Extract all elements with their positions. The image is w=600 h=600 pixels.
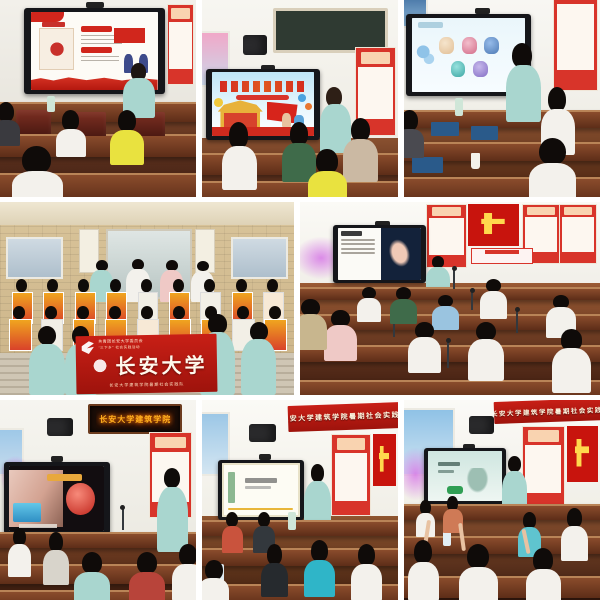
slide-photo — [381, 228, 421, 280]
student-6 — [324, 310, 357, 360]
presenter-head — [164, 468, 180, 488]
pledge-board — [471, 248, 533, 264]
child-head — [173, 279, 184, 292]
child-4-torso — [0, 120, 20, 146]
torso — [357, 298, 381, 322]
student-10 — [300, 299, 327, 349]
slide-content — [428, 451, 502, 501]
video-highlight-circle — [66, 483, 95, 515]
child-2-head — [118, 110, 136, 132]
torso — [202, 578, 229, 600]
hanging-banner-text: 长安大学建筑学院暑期社会实践队 — [494, 400, 600, 424]
torso — [300, 314, 327, 350]
hanging-banner: 长安大学建筑学院暑期社会实践队 — [494, 400, 600, 424]
slide-video — [9, 466, 104, 531]
head — [311, 540, 329, 562]
head — [49, 532, 63, 552]
board-title — [527, 207, 554, 215]
presenter-torso — [157, 487, 188, 552]
child-2 — [43, 532, 68, 584]
collage-cell-bottom-left[interactable]: 长安大学建筑学院 — [0, 400, 196, 600]
torso — [468, 339, 504, 381]
slide-subheading — [236, 95, 289, 99]
slide-card-title — [42, 22, 65, 27]
slide-content — [338, 228, 422, 280]
child-3 — [74, 552, 109, 600]
child-2 — [529, 138, 576, 197]
child-1-head — [229, 122, 249, 149]
head — [414, 540, 432, 564]
slide-heading — [245, 478, 277, 482]
collage-cell-classroom-wide[interactable]: Classroom full of children facing a scre… — [300, 202, 600, 396]
child-2-torso — [529, 163, 576, 197]
slide-side-illustration — [414, 39, 437, 72]
presentation-screen — [333, 225, 426, 283]
torso — [74, 572, 109, 600]
child-1 — [222, 512, 244, 552]
banner-sub-line: “三下乡” 社会实践活动 — [99, 346, 150, 352]
torso — [304, 560, 335, 597]
torso — [241, 339, 276, 395]
photo-top-middle — [202, 0, 398, 197]
emotion-icon-5 — [473, 61, 488, 77]
child-4 — [129, 552, 164, 600]
child-4-torso — [308, 171, 347, 196]
photo-classroom-wide — [300, 202, 600, 396]
poster-body — [169, 22, 191, 69]
balloon-blue — [298, 94, 306, 102]
wall-speaker — [47, 418, 72, 436]
student-8 — [468, 322, 504, 380]
photo-collage: Volunteer teaching a class in front of a… — [0, 0, 600, 600]
emotion-icon-3 — [484, 37, 499, 53]
presentation-screen — [218, 460, 304, 520]
head — [137, 552, 157, 574]
slide-environment — [428, 451, 502, 501]
collage-row-1: Volunteer teaching a class in front of a… — [0, 0, 600, 197]
torso — [561, 526, 588, 561]
child-4-head — [0, 102, 14, 122]
collage-row-3: 长安大学建筑学院 — [0, 400, 600, 600]
child-head — [141, 279, 152, 292]
slide-tree-graphic — [465, 468, 490, 495]
wall-speaker — [243, 35, 267, 55]
slide-line-1 — [341, 239, 375, 241]
board-body — [525, 445, 561, 493]
presenter-torso — [506, 65, 541, 122]
party-flag-board — [468, 204, 519, 247]
photo-bottom-left: 长安大学建筑学院 — [0, 400, 196, 600]
child-head — [45, 306, 57, 319]
child-6 — [202, 560, 229, 600]
head — [533, 548, 553, 571]
water-bottle — [288, 512, 296, 530]
child-2-head — [290, 122, 308, 146]
microphone — [447, 341, 449, 368]
poster-title-band — [155, 437, 186, 449]
led-scrolling-banner: 长安大学建筑学院 — [88, 404, 182, 434]
child-head — [141, 306, 153, 319]
torso — [172, 564, 196, 600]
child-3-head — [404, 110, 418, 131]
microphone — [122, 508, 124, 530]
child-1 — [8, 528, 32, 576]
child-2 — [110, 110, 145, 165]
photo-top-left — [0, 0, 196, 197]
head — [179, 544, 196, 566]
child-3 — [12, 146, 63, 197]
head — [205, 560, 223, 580]
slide-content — [9, 466, 104, 531]
child-head — [16, 279, 27, 292]
head — [567, 508, 582, 528]
child-head — [173, 306, 185, 319]
head — [467, 544, 489, 569]
child-3-head — [351, 118, 370, 142]
board-body — [562, 217, 594, 252]
wall-poster — [167, 4, 194, 85]
presentation-screen — [424, 448, 506, 504]
child-head — [269, 306, 281, 319]
child-5 — [351, 544, 382, 600]
slide-bottom-band — [228, 508, 293, 510]
child-3-torso — [12, 171, 63, 196]
university-emblem-icon — [82, 341, 95, 354]
board-title — [432, 207, 462, 216]
child-head — [77, 306, 89, 319]
water-bottle — [455, 98, 463, 116]
values-poster — [553, 0, 598, 91]
student-7 — [408, 322, 441, 372]
microphone — [471, 291, 473, 310]
torso — [408, 562, 439, 600]
microphone — [516, 310, 518, 333]
pledge-board-title — [485, 250, 519, 254]
slide-content — [222, 463, 300, 517]
child-head — [267, 279, 278, 292]
child-head — [47, 279, 58, 292]
photo-bottom-middle: 长安大学建筑学院暑期社会实践队 — [202, 400, 398, 600]
slide-illustration — [39, 28, 74, 71]
child-front-1 — [9, 306, 30, 349]
microphone — [453, 269, 455, 288]
volunteer-kneeling-left — [29, 326, 64, 396]
volunteer-d-head — [197, 261, 209, 272]
board-title — [337, 438, 365, 449]
torso — [351, 564, 382, 600]
balloon-yellow — [214, 98, 223, 107]
child-3-torso — [343, 139, 378, 182]
slide-subline — [245, 486, 272, 489]
child-3 — [343, 118, 378, 181]
slide-line-4 — [341, 252, 375, 254]
slide-text-column — [338, 228, 382, 280]
head — [208, 314, 226, 334]
award-certificate — [9, 319, 32, 351]
laptop-2 — [471, 126, 498, 140]
child-4 — [0, 102, 20, 145]
child-head — [236, 279, 247, 292]
slide-heading — [341, 231, 362, 236]
child-3 — [261, 544, 288, 596]
child-1-head — [62, 110, 80, 131]
torso — [261, 563, 288, 597]
slide-heading — [418, 22, 443, 27]
screen-camera-icon — [475, 8, 491, 14]
wall-board-1 — [522, 426, 565, 508]
slide-heading — [438, 462, 460, 466]
poster-body — [557, 4, 595, 69]
poster-body — [358, 67, 393, 119]
slide-green-button — [447, 486, 463, 494]
head — [267, 544, 282, 565]
child-3-torso — [404, 129, 424, 158]
torso — [526, 569, 561, 600]
photo-top-right — [404, 0, 600, 197]
led-banner-text: 长安大学建筑学院 — [96, 410, 175, 429]
laptop-1 — [431, 122, 458, 136]
presenter — [506, 43, 541, 122]
child-3 — [404, 110, 424, 157]
collage-cell-top-middle[interactable]: Presenter beside a large screen showing … — [202, 0, 398, 197]
hanging-banner-text: 长安大学建筑学院暑期社会实践队 — [288, 402, 398, 432]
child-6-hand-raised — [459, 544, 498, 600]
child-4 — [308, 149, 347, 196]
child-3-head — [22, 146, 52, 174]
child-head — [13, 306, 25, 319]
child-7-hand-raised — [526, 548, 561, 600]
student-1 — [357, 287, 381, 322]
head — [38, 326, 56, 346]
collage-cell-bottom-middle[interactable]: 长安大学建筑学院暑期社会实践队 — [202, 400, 398, 600]
laptop-3 — [412, 157, 443, 173]
child-head — [78, 279, 89, 292]
child-head — [110, 279, 121, 292]
screen-camera-icon — [86, 2, 104, 8]
photo-bottom-right: 长安大学建筑学院暑期社会实践队 — [404, 400, 600, 600]
wall-speaker — [469, 416, 494, 434]
banner-university-name: 长安大学 — [116, 352, 207, 377]
university-banner: 共青团长安大学委员会 “三下乡” 社会实践活动 长安大学 长安大学建筑学院暑期社… — [76, 334, 218, 395]
wall-board-3 — [559, 204, 597, 264]
video-caption-tag — [47, 474, 81, 482]
slide-line-2 — [341, 243, 375, 245]
water-bottle — [47, 96, 55, 112]
slide-subline — [438, 470, 454, 473]
torso — [129, 572, 164, 600]
collage-cell-bottom-right[interactable]: 长安大学建筑学院暑期社会实践队 — [404, 400, 600, 600]
child-4 — [561, 508, 588, 560]
poster-title-band — [171, 8, 190, 19]
torso — [8, 544, 32, 577]
slide-side-bar — [228, 472, 235, 503]
torso — [222, 526, 244, 553]
child-1 — [222, 122, 257, 189]
torso — [552, 348, 591, 393]
head — [358, 544, 376, 566]
student-9 — [552, 329, 591, 391]
board-body — [429, 218, 463, 255]
emotion-icon-1 — [439, 37, 454, 53]
head — [82, 552, 102, 574]
slide-label-2 — [81, 47, 111, 52]
child-2-torso — [110, 130, 144, 165]
slide-corner-block — [31, 12, 64, 22]
board-body — [335, 453, 368, 501]
torso — [459, 567, 498, 600]
torso — [29, 344, 64, 396]
slide-heading — [220, 81, 306, 92]
child-2-head — [539, 138, 566, 166]
emotion-icon-4 — [451, 61, 466, 77]
collage-cell-group-photo[interactable]: 共青团长安大学委员会 “三下乡” 社会实践活动 长安大学 长安大学建筑学院暑期社… — [0, 202, 294, 396]
slide-flag-graphic — [114, 28, 144, 44]
student-4 — [480, 279, 507, 318]
presenter — [157, 468, 188, 552]
presenter-head — [311, 464, 324, 482]
building-eave — [0, 202, 294, 225]
banner-seal-icon — [90, 356, 110, 376]
slide-summary — [222, 463, 300, 517]
torso — [43, 550, 68, 585]
banner-top-line: 共青团长安大学委员会 — [99, 339, 150, 345]
photo-group: 共青团长安大学委员会 “三下乡” 社会实践活动 长安大学 长安大学建筑学院暑期社… — [0, 202, 294, 396]
child-head — [204, 279, 215, 292]
head — [250, 322, 268, 341]
slide-text-lines-2 — [81, 56, 119, 64]
torso — [324, 325, 357, 361]
child-5-hand-raised — [408, 540, 439, 600]
child-4-head — [316, 149, 337, 173]
child-5 — [172, 544, 196, 600]
collage-cell-top-right[interactable]: Young woman presenting a pale-blue slide… — [404, 0, 600, 197]
presentation-screen — [4, 462, 110, 534]
collage-cell-top-left[interactable]: Volunteer teaching a class in front of a… — [0, 0, 196, 197]
torso — [390, 299, 417, 325]
paper-cup — [471, 153, 481, 169]
child-head — [237, 306, 249, 319]
wall-board-1 — [331, 434, 370, 516]
student-2 — [390, 287, 417, 324]
child-1-head — [548, 87, 567, 112]
party-flag-board — [373, 434, 397, 486]
slide-line-3 — [341, 248, 375, 250]
wall-speaker — [249, 424, 276, 442]
emotion-icon-2 — [462, 37, 477, 53]
banner-bottom-line: 长安大学建筑学院暑期社会实践队 — [88, 381, 207, 392]
presenter-head — [508, 456, 521, 472]
slide-label-1 — [81, 26, 111, 31]
child-1-torso — [222, 146, 257, 190]
torso — [408, 337, 441, 373]
board-body — [525, 217, 557, 252]
board-title — [528, 430, 559, 441]
hanging-banner: 长安大学建筑学院暑期社会实践队 — [288, 402, 398, 432]
balloon-orange — [305, 103, 312, 110]
volunteer-kneeling-right-2 — [241, 322, 276, 396]
slide-first-aid — [338, 228, 422, 280]
board-title — [564, 207, 591, 215]
torso — [480, 291, 507, 319]
child-4 — [304, 540, 335, 596]
child-head — [109, 306, 121, 319]
party-flag-board — [567, 426, 598, 482]
poster-title-band — [361, 52, 391, 64]
chair-back-1 — [16, 110, 51, 134]
collage-row-2: 共青团长安大学委员会 “三下乡” 社会实践活动 长安大学 长安大学建筑学院暑期社… — [0, 202, 600, 396]
